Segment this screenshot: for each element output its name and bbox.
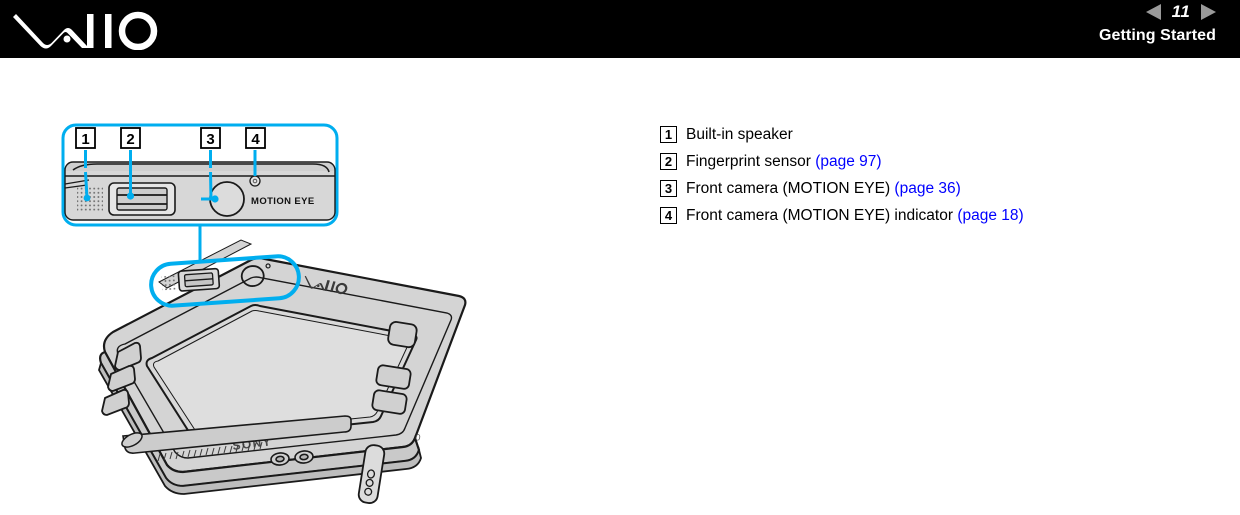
fingerprint-sensor-icon xyxy=(109,183,175,215)
triangle-left-icon[interactable] xyxy=(1146,4,1161,20)
page-reference-link[interactable]: (page 36) xyxy=(894,180,960,197)
svg-text:4: 4 xyxy=(251,131,260,148)
vaio-logo xyxy=(12,4,172,50)
page-header: 11 Getting Started xyxy=(0,0,1240,58)
device-speaker-icon xyxy=(162,275,177,290)
svg-text:2: 2 xyxy=(126,131,134,148)
magnified-detail-panel: MOTION EYE xyxy=(63,125,337,225)
legend-item: 2 Fingerprint sensor (page 97) xyxy=(660,153,1180,171)
page-reference-link[interactable]: (page 97) xyxy=(815,153,881,170)
camera-indicator-icon xyxy=(250,176,260,186)
legend-item: 3 Front camera (MOTION EYE) (page 36) xyxy=(660,180,1180,198)
legend-number-badge: 3 xyxy=(660,180,677,197)
page-number: 11 xyxy=(1170,2,1192,22)
page-navigation: 11 xyxy=(1099,2,1216,22)
header-navigation: 11 Getting Started xyxy=(1099,2,1216,45)
page-reference-link[interactable]: (page 18) xyxy=(957,207,1023,224)
legend-item: 1 Built-in speaker xyxy=(660,126,1180,144)
detail-callout-numbers: 1 2 3 4 xyxy=(76,128,265,148)
legend-label: Fingerprint sensor xyxy=(686,153,815,170)
page-content: 1 2 3 4 xyxy=(0,58,1240,509)
vaio-device-illustration: SONY xyxy=(99,240,465,504)
svg-text:3: 3 xyxy=(206,131,214,148)
legend-number-badge: 2 xyxy=(660,153,677,170)
legend-label: Front camera (MOTION EYE) indicator xyxy=(686,207,957,224)
device-illustration: 1 2 3 4 xyxy=(55,120,475,510)
svg-text:1: 1 xyxy=(81,131,89,148)
legend-number-badge: 4 xyxy=(660,207,677,224)
legend-number-badge: 1 xyxy=(660,126,677,143)
legend-label: Built-in speaker xyxy=(686,126,793,143)
legend-label: Front camera (MOTION EYE) xyxy=(686,180,894,197)
svg-text:0: 0 xyxy=(415,432,422,443)
legend-item: 4 Front camera (MOTION EYE) indicator (p… xyxy=(660,207,1180,225)
component-legend: 1 Built-in speaker 2 Fingerprint sensor … xyxy=(660,126,1180,234)
motion-eye-label: MOTION EYE xyxy=(251,196,315,207)
triangle-right-icon[interactable] xyxy=(1201,4,1216,20)
device-figure: 1 2 3 4 xyxy=(55,120,475,510)
section-title: Getting Started xyxy=(1099,27,1216,45)
